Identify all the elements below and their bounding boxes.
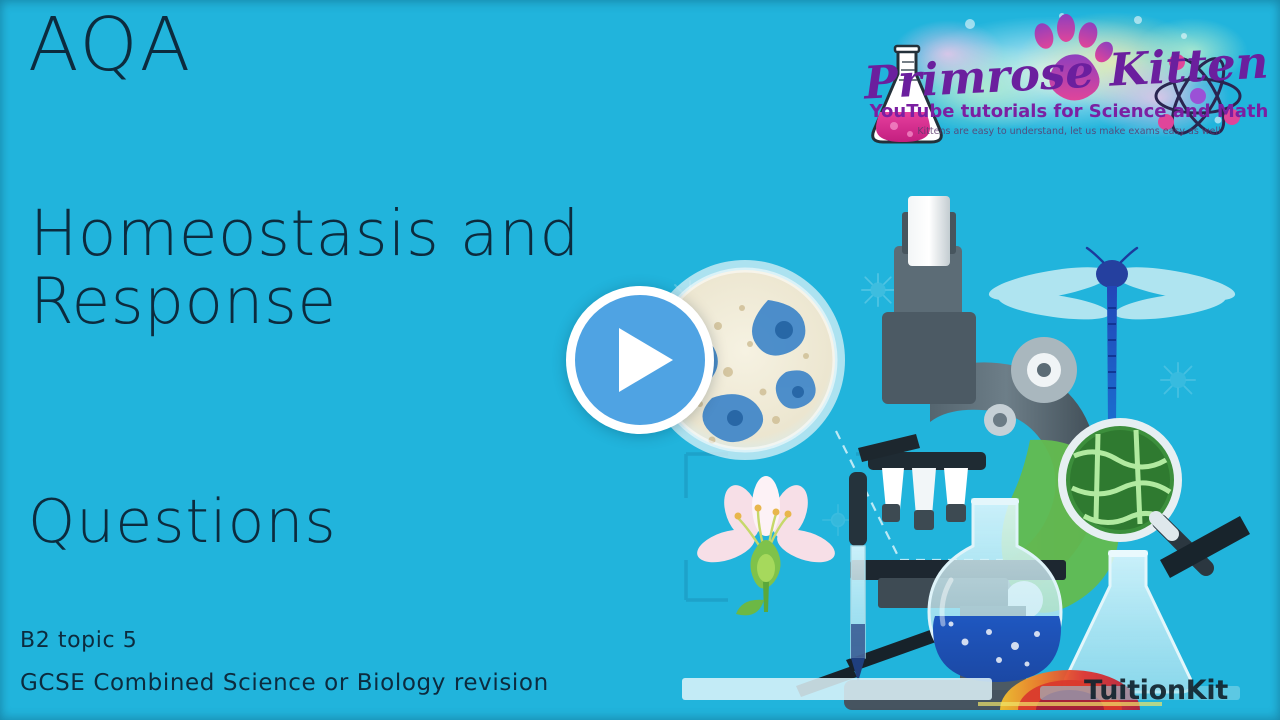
video-title: Homeostasis and Response xyxy=(30,200,580,336)
video-title-line-2: Response xyxy=(30,268,580,336)
pipette-icon xyxy=(849,472,867,682)
bench-shelf xyxy=(682,678,992,700)
flower-icon xyxy=(693,476,839,615)
channel-logo: Primrose Kitten YouTube tutorials for Sc… xyxy=(862,2,1280,162)
paper-type-label: Questions xyxy=(28,487,337,557)
objective-lenses xyxy=(882,468,968,530)
topic-label: B2 topic 5 xyxy=(20,628,137,653)
video-title-line-1: Homeostasis and xyxy=(30,200,580,268)
play-triangle-icon xyxy=(619,328,673,392)
exam-board-name: AQA xyxy=(28,8,192,82)
video-thumbnail: Primrose Kitten YouTube tutorials for Sc… xyxy=(0,0,1280,720)
logo-tagline: YouTube tutorials for Science and Math xyxy=(869,101,1269,122)
qualification-label: GCSE Combined Science or Biology revisio… xyxy=(20,670,549,696)
tuitionkit-watermark: TuitionKit xyxy=(1084,675,1228,706)
logo-strapline: Kittens are easy to understand, let us m… xyxy=(917,126,1220,137)
play-button[interactable] xyxy=(566,286,714,434)
